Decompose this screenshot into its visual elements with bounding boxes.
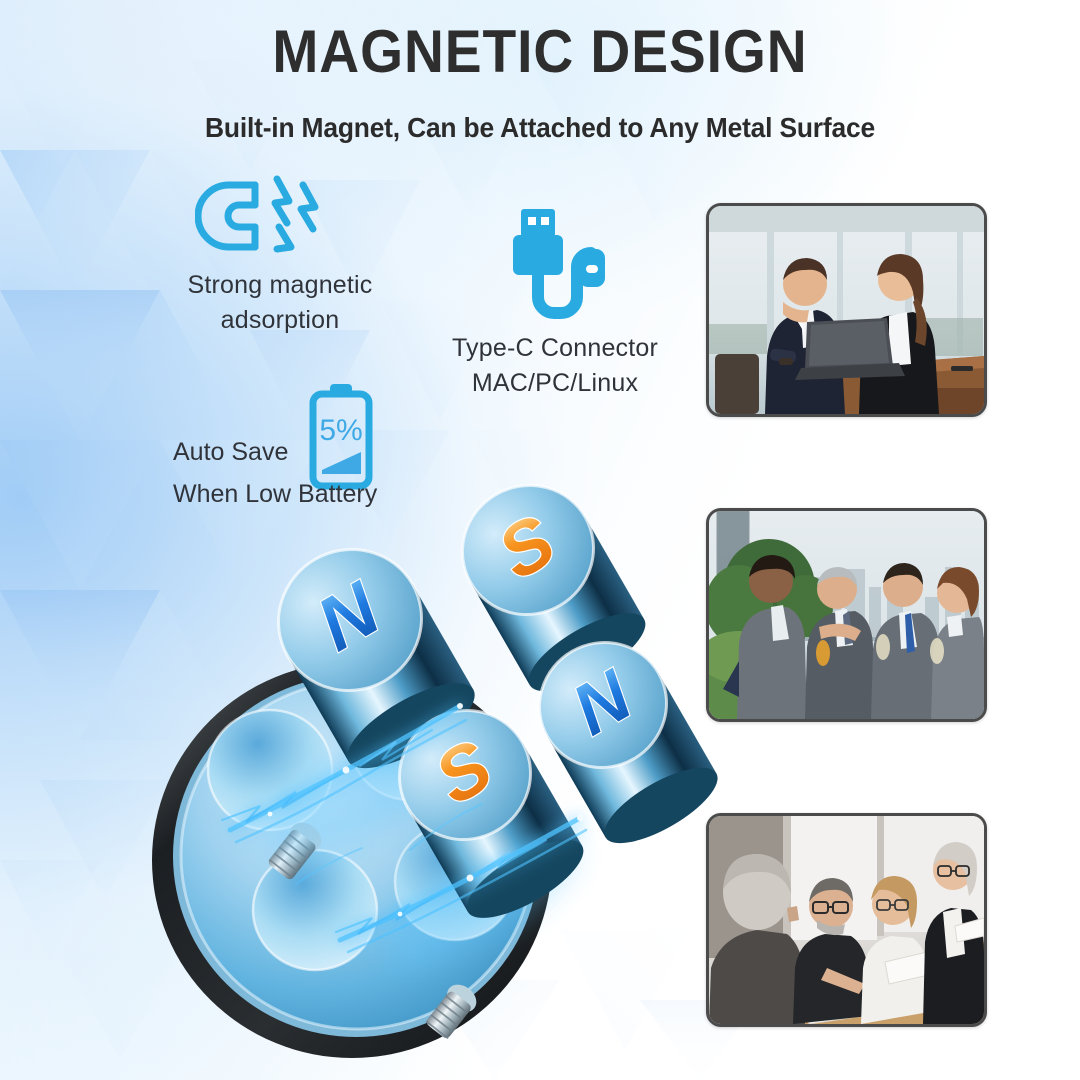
photo-card-meeting-documents[interactable] — [706, 813, 987, 1027]
usb-type-c-cable-icon — [430, 205, 680, 323]
horseshoe-magnet-icon — [150, 170, 410, 262]
feature-type-c-connector: Type-C Connector MAC/PC/Linux — [430, 205, 680, 400]
feature-strong-magnetic-adsorption: Strong magnetic adsorption — [150, 170, 410, 337]
photo-card-office-laptop[interactable] — [706, 203, 987, 417]
feature-line-1: Auto Save — [173, 438, 288, 467]
photo-card-outdoor-networking[interactable] — [706, 508, 987, 722]
feature-line-1: Type-C Connector — [430, 331, 680, 366]
feature-text-block: Type-C Connector MAC/PC/Linux — [430, 331, 680, 400]
page-header: MAGNETIC DESIGN Built-in Magnet, Can be … — [0, 0, 1080, 144]
product-image-magnetic-mount: N S S — [110, 470, 730, 1070]
photo-office-laptop-discussion — [709, 206, 984, 414]
battery-percent-label: 5% — [319, 414, 362, 447]
photo-outdoor-networking — [709, 511, 984, 719]
feature-line-2: MAC/PC/Linux — [430, 366, 680, 401]
photo-meeting-documents — [709, 816, 984, 1024]
infographic-page: MAGNETIC DESIGN Built-in Magnet, Can be … — [0, 0, 1080, 1080]
person-4 — [930, 567, 984, 719]
feature-line-2: adsorption — [150, 303, 410, 338]
page-subtitle: Built-in Magnet, Can be Attached to Any … — [22, 112, 1059, 144]
feature-text-block: Strong magnetic adsorption — [150, 268, 410, 337]
feature-line-1: Strong magnetic — [150, 268, 410, 303]
page-title: MAGNETIC DESIGN — [43, 22, 1037, 82]
